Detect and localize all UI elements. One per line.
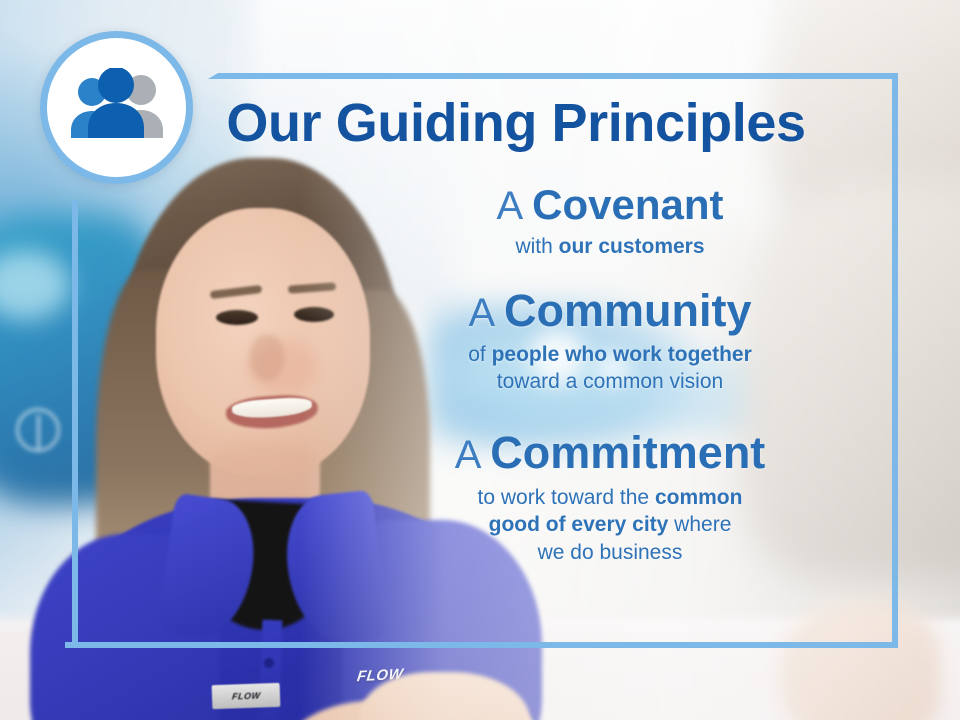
- principle-subtext-bold: our customers: [559, 235, 705, 258]
- principle-lead: A: [468, 291, 504, 335]
- principle-lead: A: [455, 433, 491, 477]
- principle-lead: A: [497, 184, 533, 228]
- principle-keyword: Covenant: [532, 181, 723, 228]
- principle-subtext-plain: to work toward the: [478, 486, 655, 509]
- principle-subtext-plain: with: [515, 235, 558, 258]
- principle-keyword: Community: [504, 285, 752, 336]
- principle-subtext: of people who work together toward a com…: [330, 342, 890, 396]
- principle-heading: A Covenant: [330, 182, 890, 228]
- principles-list: A Covenant with our customers A Communit…: [330, 180, 890, 570]
- principle-covenant: A Covenant with our customers: [330, 182, 890, 261]
- page-title-text: Our Guiding Principles: [226, 92, 805, 154]
- principle-subtext-line2: toward a common vision: [497, 370, 723, 393]
- principle-subtext-bold: common: [655, 486, 743, 509]
- principle-community: A Community of people who work together …: [330, 287, 890, 395]
- principle-keyword: Commitment: [490, 427, 765, 478]
- principle-subtext-line2: good of every city where: [489, 513, 732, 536]
- principle-subtext: with our customers: [330, 234, 890, 261]
- principle-subtext-bold: people who work together: [492, 343, 752, 366]
- principle-heading: A Community: [330, 287, 890, 336]
- principle-commitment: A Commitment to work toward the common g…: [330, 429, 890, 565]
- principle-heading: A Commitment: [330, 429, 890, 478]
- page-title: Our Guiding Principles: [0, 92, 960, 154]
- principle-subtext-plain: of: [468, 343, 491, 366]
- subtext-line2-bold: good of every city: [489, 513, 669, 536]
- subtext-line2-plain: where: [668, 513, 731, 536]
- poster-canvas: FLOW FLOW: [0, 0, 960, 720]
- principle-subtext: to work toward the common good of every …: [330, 484, 890, 566]
- principle-subtext-line3: we do business: [538, 541, 683, 564]
